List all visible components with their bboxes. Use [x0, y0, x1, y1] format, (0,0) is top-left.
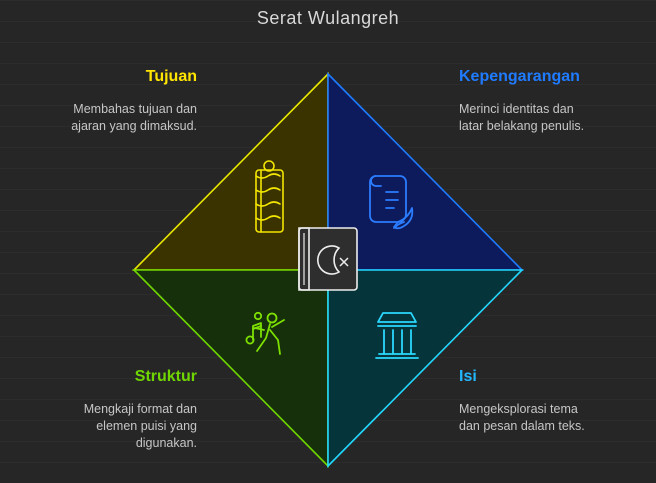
quadrant-isi[interactable] — [328, 270, 522, 466]
quadrant-struktur-label: Struktur — [135, 368, 197, 386]
quadrant-isi-description: Mengeksplorasi tema dan pesan dalam teks… — [459, 401, 656, 435]
quadrant-struktur-description: Mengkaji format dan elemen puisi yang di… — [0, 401, 197, 452]
infographic-page: Serat Wulangreh — [0, 0, 656, 483]
quadrant-isi-shape[interactable] — [328, 270, 522, 466]
quadrant-tujuan-label: Tujuan — [146, 68, 197, 86]
quadrant-isi-label: Isi — [459, 368, 477, 386]
quadrant-kepengarangan-description: Merinci identitas dan latar belakang pen… — [459, 101, 656, 135]
quadrant-kepengarangan-label: Kepengarangan — [459, 68, 580, 86]
quadrant-tujuan-description: Membahas tujuan dan ajaran yang dimaksud… — [0, 101, 197, 135]
center-book-icon — [299, 228, 357, 290]
